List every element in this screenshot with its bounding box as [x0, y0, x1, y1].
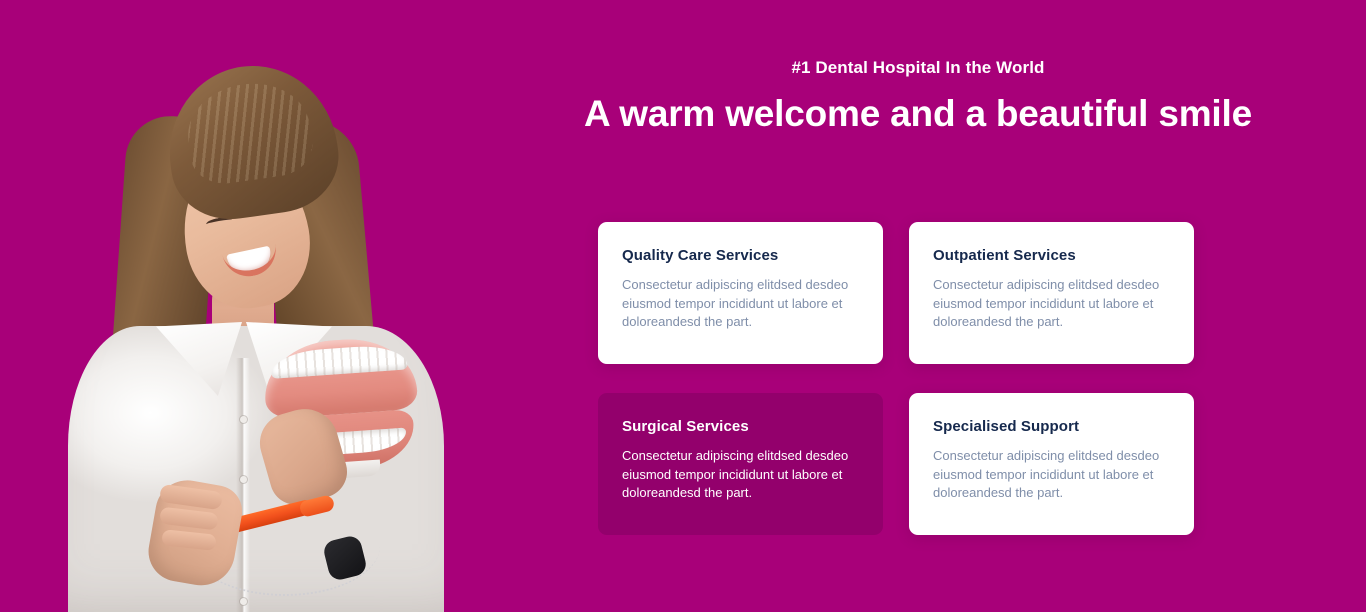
shirt-button	[240, 598, 247, 605]
service-card-title: Specialised Support	[933, 418, 1170, 436]
shirt-button	[240, 416, 247, 423]
service-card-title: Surgical Services	[622, 418, 859, 436]
service-card-outpatient[interactable]: Outpatient Services Consectetur adipisci…	[909, 222, 1194, 364]
shirt-button	[240, 476, 247, 483]
dental-patient-photo	[60, 58, 450, 612]
service-card-body: Consectetur adipiscing elitdsed desdeo e…	[622, 276, 859, 332]
service-card-specialised-support[interactable]: Specialised Support Consectetur adipisci…	[909, 393, 1194, 535]
hero-photo-area	[0, 0, 470, 612]
service-card-surgical[interactable]: Surgical Services Consectetur adipiscing…	[598, 393, 883, 535]
page-title: A warm welcome and a beautiful smile	[470, 94, 1366, 133]
service-card-title: Outpatient Services	[933, 247, 1170, 265]
service-card-title: Quality Care Services	[622, 247, 859, 265]
service-card-body: Consectetur adipiscing elitdsed desdeo e…	[622, 447, 859, 503]
hero-content: #1 Dental Hospital In the World A warm w…	[470, 0, 1366, 612]
service-card-body: Consectetur adipiscing elitdsed desdeo e…	[933, 276, 1170, 332]
service-card-grid: Quality Care Services Consectetur adipis…	[598, 222, 1194, 535]
hero-eyebrow: #1 Dental Hospital In the World	[470, 58, 1366, 78]
service-card-quality-care[interactable]: Quality Care Services Consectetur adipis…	[598, 222, 883, 364]
service-card-body: Consectetur adipiscing elitdsed desdeo e…	[933, 447, 1170, 503]
hero-section: #1 Dental Hospital In the World A warm w…	[0, 0, 1366, 612]
